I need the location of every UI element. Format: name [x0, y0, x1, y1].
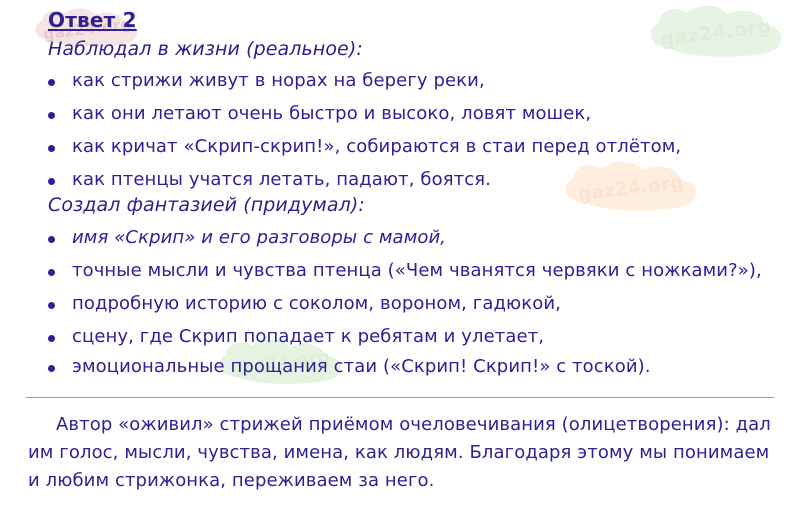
- bullet-dot-icon: [48, 145, 55, 152]
- list-item-text: эмоциональные прощания стаи («Скрип! Скр…: [72, 356, 651, 378]
- watermark-cloud-middle-right: gaz24.org: [556, 158, 706, 218]
- list-item-text: подробную историю с соколом, вороном, га…: [72, 293, 561, 315]
- list-item: как кричат «Скрип-скрип!», собираются в …: [48, 136, 681, 158]
- closing-paragraph: Автор «оживил» стрижей приёмом очеловечи…: [28, 411, 773, 495]
- section-heading-imagined: Создал фантазией (придумал):: [48, 194, 365, 216]
- list-item: как стрижи живут в норах на берегу реки,: [48, 70, 485, 92]
- bullet-dot-icon: [48, 79, 55, 86]
- list-item: эмоциональные прощания стаи («Скрип! Скр…: [48, 356, 651, 378]
- list-item-text: точные мысли и чувства птенца («Чем чван…: [72, 260, 762, 282]
- watermark-text: gaz24.org: [577, 171, 685, 205]
- answer-title: Ответ 2: [48, 8, 137, 32]
- answer-page: gaz24.org gaz24.org gaz24.org gaz24.org …: [0, 0, 800, 521]
- bullet-dot-icon: [48, 269, 55, 276]
- watermark-text: gaz24.org: [659, 15, 773, 50]
- bullet-dot-icon: [48, 236, 55, 243]
- section-heading-observed: Наблюдал в жизни (реальное):: [48, 38, 363, 60]
- bullet-dot-icon: [48, 365, 55, 372]
- list-item-text: сцену, где Скрип попадает к ребятам и ул…: [72, 326, 544, 348]
- list-item: подробную историю с соколом, вороном, га…: [48, 293, 561, 315]
- bullet-dot-icon: [48, 302, 55, 309]
- list-item: как они летают очень быстро и высоко, ло…: [48, 103, 591, 125]
- list-item-text: как стрижи живут в норах на берегу реки,: [72, 70, 485, 92]
- list-item: точные мысли и чувства птенца («Чем чван…: [48, 260, 762, 282]
- list-item: имя «Скрип» и его разговоры с мамой,: [48, 227, 446, 249]
- bullet-dot-icon: [48, 112, 55, 119]
- list-item-text: как кричат «Скрип-скрип!», собираются в …: [72, 136, 681, 158]
- list-item: как птенцы учатся летать, падают, боятся…: [48, 169, 491, 191]
- watermark-cloud-top-right: gaz24.org: [641, 2, 791, 64]
- list-item: сцену, где Скрип попадает к ребятам и ул…: [48, 326, 544, 348]
- list-item-text: как они летают очень быстро и высоко, ло…: [72, 103, 591, 125]
- list-item-text: имя «Скрип» и его разговоры с мамой,: [72, 227, 446, 249]
- bullet-dot-icon: [48, 178, 55, 185]
- bullet-dot-icon: [48, 335, 55, 342]
- section-divider: [26, 397, 774, 398]
- list-item-text: как птенцы учатся летать, падают, боятся…: [72, 169, 491, 191]
